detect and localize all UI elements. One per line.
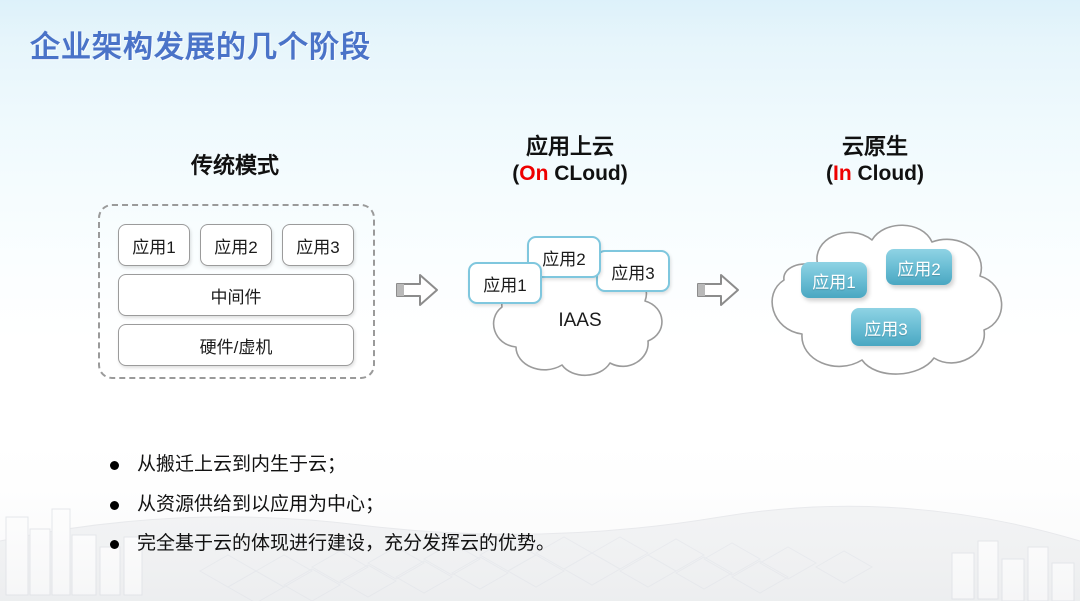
stage-heading-on-cloud: 应用上云 (On CLoud) — [430, 133, 710, 187]
traditional-stack-container: 应用1 应用2 应用3 中间件 硬件/虚机 — [98, 204, 375, 379]
in-cloud-paren-open: ( — [826, 162, 833, 185]
list-item: 完全基于云的体现进行建设，充分发挥云的优势。 — [110, 531, 810, 557]
on-cloud-rest-word: CLoud) — [548, 162, 627, 185]
list-item: 从资源供给到以应用为中心； — [110, 492, 810, 518]
stage-heading-on-cloud-cn: 应用上云 — [430, 133, 710, 161]
in-cloud-app3-card[interactable]: 应用3 — [851, 308, 921, 346]
bullet-text: 从搬迁上云到内生于云； — [137, 452, 346, 478]
in-cloud-red-word: In — [833, 162, 852, 185]
stage-heading-in-cloud: 云原生 (In Cloud) — [735, 133, 1015, 187]
on-cloud-app1-card[interactable]: 应用1 — [468, 262, 542, 304]
bullet-dot-icon — [110, 461, 119, 470]
traditional-app3-box[interactable]: 应用3 — [282, 224, 354, 266]
slide-canvas: 企业架构发展的几个阶段 传统模式 应用1 应用2 应用3 中间件 硬件/虚机 应… — [0, 0, 1080, 601]
on-cloud-app3-card[interactable]: 应用3 — [596, 250, 670, 292]
iaas-label: IAAS — [525, 310, 635, 332]
traditional-app1-box[interactable]: 应用1 — [118, 224, 190, 266]
stage-heading-in-cloud-cn: 云原生 — [735, 133, 1015, 161]
right-arrow-icon — [395, 272, 439, 308]
stage-heading-on-cloud-en: (On CLoud) — [430, 161, 710, 187]
native-cloud-shape — [760, 218, 1015, 383]
traditional-app2-box[interactable]: 应用2 — [200, 224, 272, 266]
in-cloud-rest-word: Cloud) — [852, 162, 924, 185]
bullet-text: 完全基于云的体现进行建设，充分发挥云的优势。 — [137, 531, 555, 557]
stage-heading-traditional: 传统模式 — [95, 152, 375, 180]
stage-heading-traditional-cn: 传统模式 — [95, 152, 375, 180]
on-cloud-red-word: On — [519, 162, 548, 185]
traditional-middleware-box[interactable]: 中间件 — [118, 274, 354, 316]
bullet-text: 从资源供给到以应用为中心； — [137, 492, 384, 518]
bullet-list: 从搬迁上云到内生于云； 从资源供给到以应用为中心； 完全基于云的体现进行建设，充… — [110, 452, 810, 571]
stage-heading-in-cloud-en: (In Cloud) — [735, 161, 1015, 187]
in-cloud-app2-card[interactable]: 应用2 — [886, 249, 952, 285]
list-item: 从搬迁上云到内生于云； — [110, 452, 810, 478]
page-title: 企业架构发展的几个阶段 — [30, 22, 371, 66]
bullet-dot-icon — [110, 540, 119, 549]
in-cloud-app1-card[interactable]: 应用1 — [801, 262, 867, 298]
right-arrow-icon — [696, 272, 740, 308]
traditional-hardware-box[interactable]: 硬件/虚机 — [118, 324, 354, 366]
bullet-dot-icon — [110, 501, 119, 510]
